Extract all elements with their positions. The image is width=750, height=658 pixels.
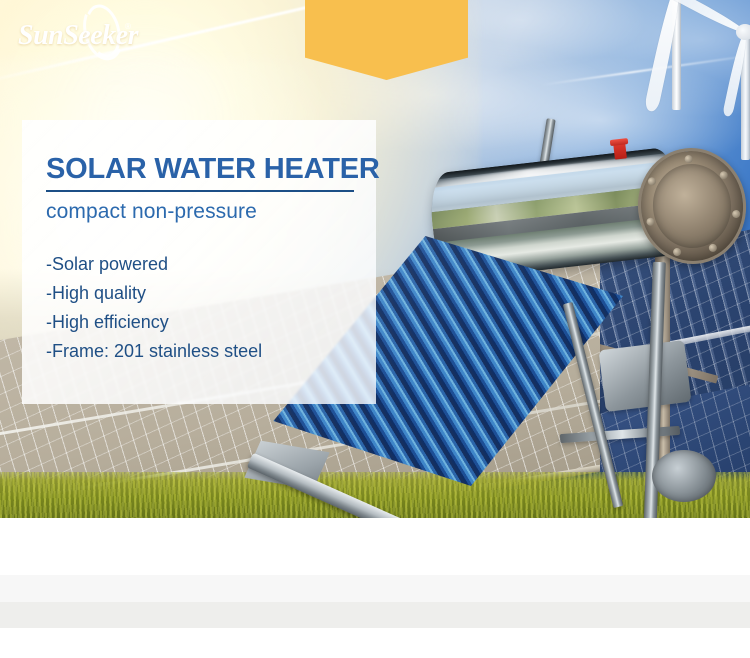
end-cap-bolt	[646, 217, 655, 226]
page-title: SOLAR WATER HEATER	[46, 154, 362, 184]
red-vent-cap	[613, 141, 627, 159]
registered-trademark-mark: ®	[125, 22, 131, 31]
footer-grey-band	[0, 602, 750, 628]
end-cap-bolt	[648, 177, 657, 186]
frame-mount-bracket	[599, 340, 692, 412]
product-text-panel: SOLAR WATER HEATER compact non-pressure …	[22, 120, 376, 404]
end-cap-bolt	[709, 243, 718, 252]
list-item: -High efficiency	[46, 308, 362, 337]
product-banner: SOLAR WATER HEATER compact non-pressure …	[0, 0, 750, 658]
text-panel-content: SOLAR WATER HEATER compact non-pressure …	[46, 154, 362, 366]
footer-light-strip	[0, 575, 750, 602]
title-divider	[46, 190, 354, 192]
frame-base-ring	[652, 450, 716, 502]
brand-name-text: SunSeeker	[18, 20, 138, 52]
list-item: -Frame: 201 stainless steel	[46, 337, 362, 366]
end-cap-bolt	[672, 247, 681, 256]
page-subtitle: compact non-pressure	[46, 200, 362, 224]
feature-list: -Solar powered -High quality -High effic…	[46, 250, 362, 366]
list-item: -High quality	[46, 279, 362, 308]
hero-photo-scene: SOLAR WATER HEATER compact non-pressure …	[0, 0, 750, 518]
end-cap-bolt	[731, 209, 740, 218]
end-cap-bolt	[684, 155, 693, 164]
list-item: -Solar powered	[46, 250, 362, 279]
